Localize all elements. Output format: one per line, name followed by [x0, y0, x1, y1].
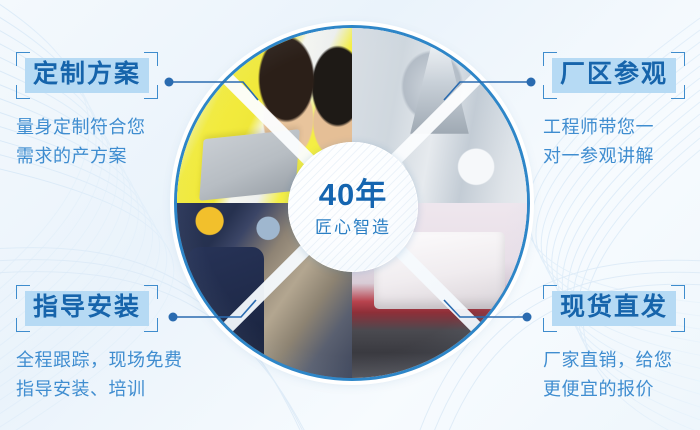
feature-tag-frame-installation-guidance: 指导安装 — [16, 285, 158, 332]
feature-desc-installation-guidance: 全程跟踪，现场免费 指导安装、培训 — [16, 346, 183, 405]
feature-desc-stock-direct-shipping: 厂家直销，给您 更便宜的报价 — [543, 346, 685, 405]
feature-tag-inner-factory-visit: 厂区参观 — [552, 58, 676, 93]
feature-tag-label-factory-visit: 厂区参观 — [552, 58, 676, 93]
center-badge: 40年 匠心智造 — [288, 142, 418, 272]
feature-tag-inner-custom-solution: 定制方案 — [25, 58, 149, 93]
feature-desc-line: 全程跟踪，现场免费 — [16, 346, 183, 376]
feature-tag-label-custom-solution: 定制方案 — [25, 58, 149, 93]
feature-desc-custom-solution: 量身定制符合您 需求的产方案 — [16, 113, 158, 172]
feature-installation-guidance: 指导安装 全程跟踪，现场免费 指导安装、培训 — [16, 285, 183, 405]
feature-tag-frame-factory-visit: 厂区参观 — [543, 52, 685, 99]
connector-dot-top-left — [165, 78, 174, 87]
feature-desc-factory-visit: 工程师带您一 对一参观讲解 — [543, 113, 685, 172]
badge-slogan: 匠心智造 — [315, 219, 391, 236]
feature-tag-frame-custom-solution: 定制方案 — [16, 52, 158, 99]
badge-years: 40年 — [319, 179, 387, 210]
feature-tag-frame-stock-direct-shipping: 现货直发 — [543, 285, 685, 332]
feature-desc-line: 对一参观讲解 — [543, 142, 685, 172]
feature-desc-line: 需求的产方案 — [16, 142, 158, 172]
feature-tag-inner-stock-direct-shipping: 现货直发 — [552, 291, 676, 326]
feature-desc-line: 量身定制符合您 — [16, 113, 158, 143]
feature-desc-line: 更便宜的报价 — [543, 375, 685, 405]
feature-tag-inner-installation-guidance: 指导安装 — [25, 291, 149, 326]
feature-tag-label-installation-guidance: 指导安装 — [25, 291, 149, 326]
feature-stock-direct-shipping: 现货直发 厂家直销，给您 更便宜的报价 — [543, 285, 685, 405]
feature-factory-visit: 厂区参观 工程师带您一 对一参观讲解 — [543, 52, 685, 172]
connector-dot-top-right — [527, 78, 536, 87]
promo-banner: 40年 匠心智造 定制方案 量身定制符合您 需求的产方案 — [0, 0, 700, 430]
feature-tag-label-stock-direct-shipping: 现货直发 — [552, 291, 676, 326]
feature-desc-line: 指导安装、培训 — [16, 375, 183, 405]
feature-desc-line: 厂家直销，给您 — [543, 346, 685, 376]
feature-desc-line: 工程师带您一 — [543, 113, 685, 143]
feature-custom-solution: 定制方案 量身定制符合您 需求的产方案 — [16, 52, 158, 172]
